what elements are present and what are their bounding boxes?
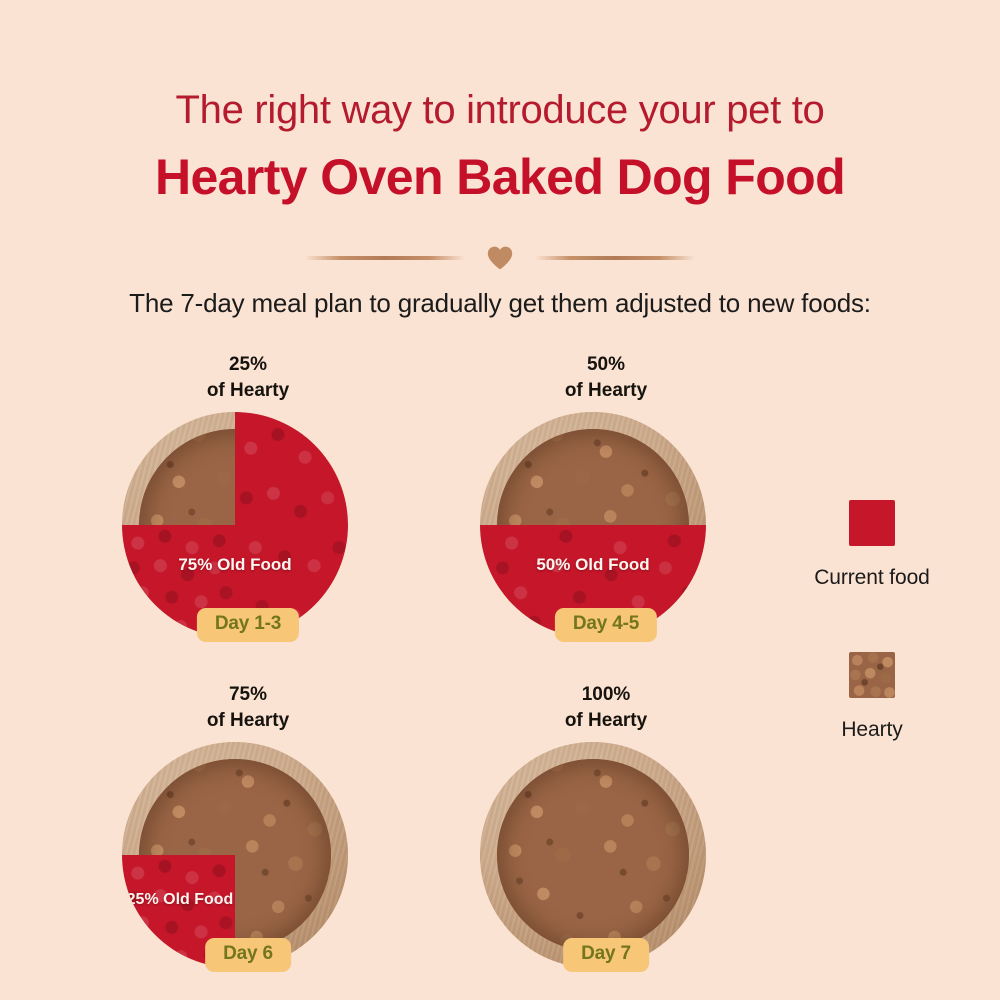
bowl-percent-label: 100% of Hearty <box>446 682 766 734</box>
kibble-texture <box>497 429 689 621</box>
bowl-percent-value: 25% <box>88 352 408 378</box>
kibble-texture <box>139 429 331 621</box>
day-badge: Day 7 <box>563 938 649 972</box>
kibble-texture <box>139 759 331 951</box>
bowl-percent-label: 75% of Hearty <box>88 682 408 734</box>
bowl-graphic: 25% Old Food <box>122 742 348 968</box>
legend-label: Hearty <box>766 718 978 742</box>
kibble-swatch-icon <box>849 652 895 698</box>
kibble-texture <box>497 759 689 951</box>
bowl-kibble-bed <box>497 429 689 621</box>
divider-rule-left <box>305 256 465 260</box>
bowl-percent-sub: of Hearty <box>446 378 766 404</box>
divider-rule-right <box>535 256 695 260</box>
day-badge: Day 4-5 <box>555 608 657 642</box>
bowl-kibble-bed <box>139 429 331 621</box>
bowl-percent-label: 50% of Hearty <box>446 352 766 404</box>
meal-plan-grid: 25% of Hearty 75% Old Food Day 1-3 50 <box>88 340 728 990</box>
bowl-percent-value: 100% <box>446 682 766 708</box>
heart-icon <box>487 245 513 271</box>
bowl-percent-sub: of Hearty <box>446 708 766 734</box>
day-badge: Day 1-3 <box>197 608 299 642</box>
bowl-graphic <box>480 742 706 968</box>
bowl-percent-value: 50% <box>446 352 766 378</box>
divider <box>0 238 1000 278</box>
red-square-icon <box>849 500 895 546</box>
headline-line-1: The right way to introduce your pet to <box>0 0 1000 133</box>
bowl-percent-sub: of Hearty <box>88 708 408 734</box>
legend-label: Current food <box>766 566 978 590</box>
legend: Current food Hearty <box>766 500 978 742</box>
bowl-kibble-bed <box>497 759 689 951</box>
subtitle: The 7-day meal plan to gradually get the… <box>0 288 1000 319</box>
bowl-card-day-6: 75% of Hearty 25% Old Food Day 6 <box>88 670 408 1000</box>
headline-line-2: Hearty Oven Baked Dog Food <box>0 133 1000 205</box>
bowl-card-day-1-3: 25% of Hearty 75% Old Food Day 1-3 <box>88 340 408 670</box>
day-badge: Day 6 <box>205 938 291 972</box>
bowl-card-day-4-5: 50% of Hearty 50% Old Food Day 4-5 <box>446 340 766 670</box>
bowl-graphic: 50% Old Food <box>480 412 706 638</box>
bowl-graphic: 75% Old Food <box>122 412 348 638</box>
bowl-percent-value: 75% <box>88 682 408 708</box>
bowl-percent-sub: of Hearty <box>88 378 408 404</box>
bowl-card-day-7: 100% of Hearty Day 7 <box>446 670 766 1000</box>
bowl-kibble-bed <box>139 759 331 951</box>
header: The right way to introduce your pet to H… <box>0 0 1000 205</box>
legend-item-current-food: Current food <box>766 500 978 590</box>
legend-item-hearty: Hearty <box>766 652 978 742</box>
infographic-page: The right way to introduce your pet to H… <box>0 0 1000 1000</box>
bowl-percent-label: 25% of Hearty <box>88 352 408 404</box>
